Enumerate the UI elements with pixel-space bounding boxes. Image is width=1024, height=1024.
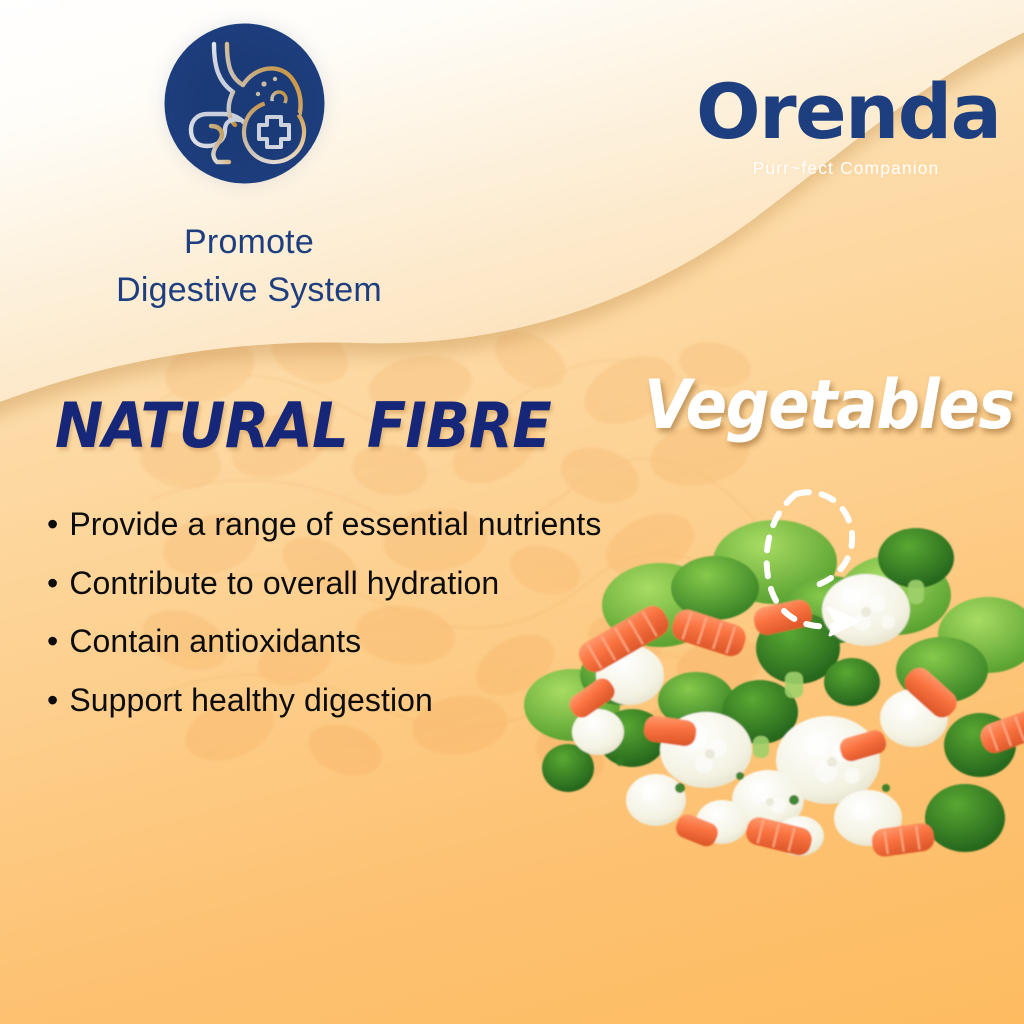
digestive-system-icon xyxy=(163,22,326,185)
bullet-marker-icon: • xyxy=(47,567,58,601)
brand-name: Orenda xyxy=(696,76,996,149)
promote-line-1: Promote xyxy=(0,218,498,266)
bullet-marker-icon: • xyxy=(47,625,58,659)
brand-tagline: Purr~fect Companion xyxy=(696,158,996,179)
bullet-marker-icon: • xyxy=(47,684,58,718)
brand-logo: Orenda Purr~fect Companion xyxy=(696,76,996,179)
promote-line-2: Digestive System xyxy=(0,266,498,314)
vegetables-wordmark: Vegetables xyxy=(644,372,1014,440)
poster-canvas: Promote Digestive System Orenda Purr~fec… xyxy=(0,0,1024,1024)
bullet-marker-icon: • xyxy=(47,508,58,542)
promote-heading: Promote Digestive System xyxy=(0,218,498,315)
dashed-curved-arrow-icon xyxy=(752,472,882,637)
page-title: NATURAL FIBRE xyxy=(55,395,551,457)
icon-glow xyxy=(153,12,336,195)
